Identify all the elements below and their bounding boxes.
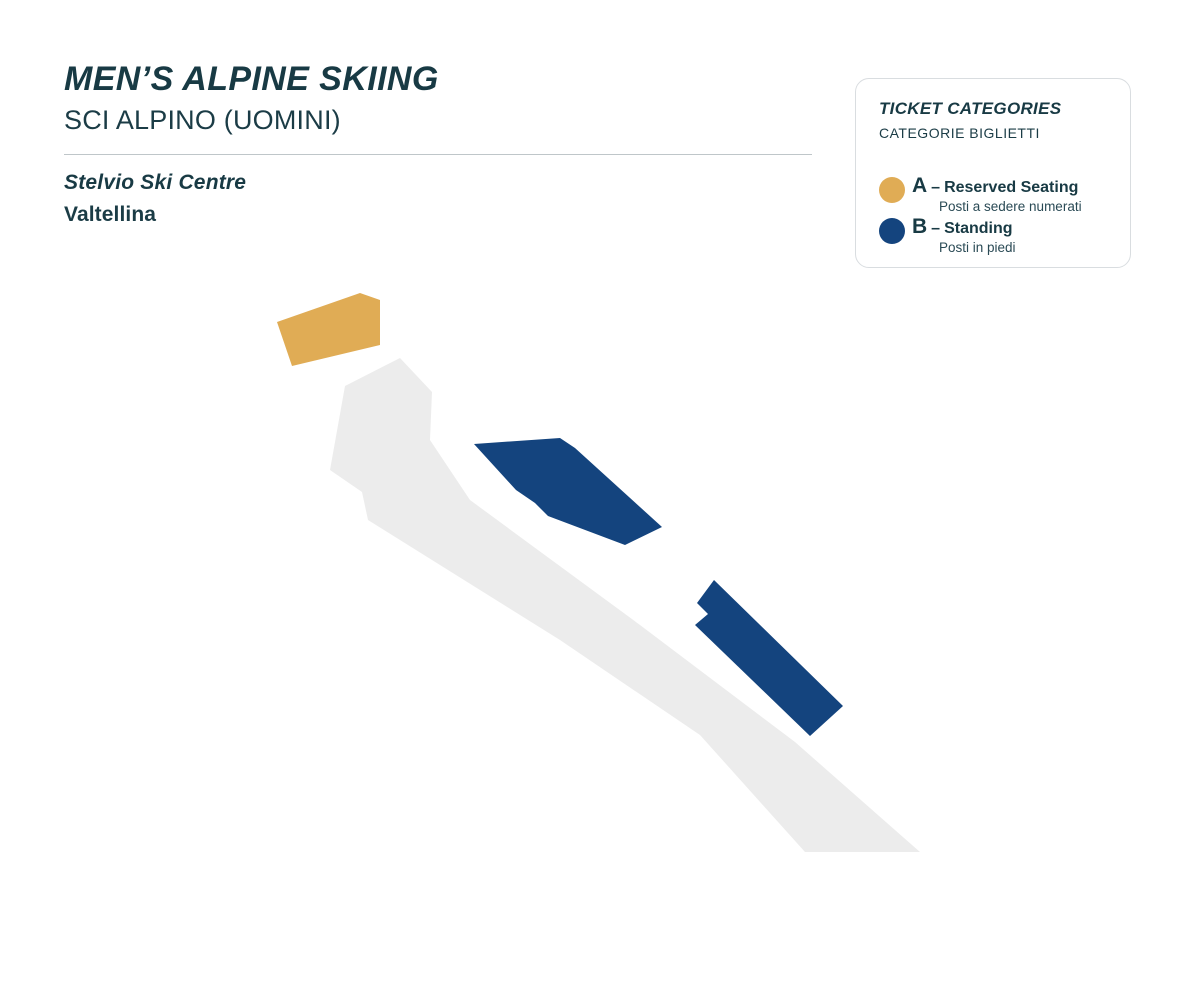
- map-area-ski-slope-course: [330, 358, 920, 852]
- map-area-seating-area-a[interactable]: [277, 293, 380, 366]
- venue-seating-map: [0, 0, 1200, 1000]
